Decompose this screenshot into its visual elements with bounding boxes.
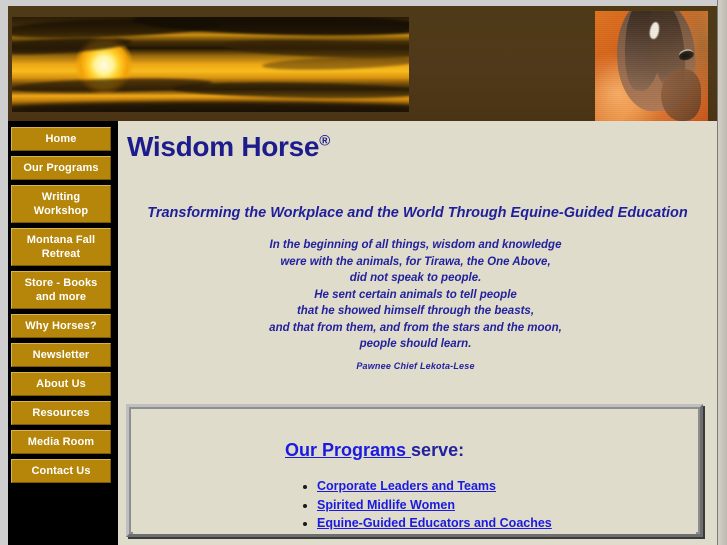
poem-line: did not speak to people. — [118, 270, 713, 287]
cloud-band — [262, 54, 409, 72]
sidebar-nav: Home Our Programs Writing Workshop Monta… — [11, 127, 111, 488]
banner-image — [8, 6, 717, 121]
program-link-corporate-leaders-and-teams[interactable]: Corporate Leaders and Teams — [317, 479, 496, 493]
cloud-band — [12, 35, 132, 57]
sidebar-item-our-programs[interactable]: Our Programs — [11, 156, 111, 180]
poem-attribution: Pawnee Chief Lekota-Lese — [118, 358, 713, 375]
sidebar-item-contact-us[interactable]: Contact Us — [11, 459, 111, 483]
sidebar-item-home[interactable]: Home — [11, 127, 111, 151]
sidebar-item-store-books-and-more[interactable]: Store - Books and more — [11, 271, 111, 309]
horse-head-photo — [595, 11, 708, 121]
page-root: Home Our Programs Writing Workshop Monta… — [0, 0, 727, 545]
sidebar-item-newsletter[interactable]: Newsletter — [11, 343, 111, 367]
poem-line: In the beginning of all things, wisdom a… — [118, 237, 713, 254]
programs-panel-inner: Our Programs serve: Corporate Leaders an… — [133, 411, 696, 534]
list-item: Equine-Guided Educators and Coaches — [317, 514, 552, 533]
list-item: Spirited Midlife Women — [317, 496, 552, 515]
poem-line: that he showed himself through the beast… — [118, 303, 713, 320]
sidebar-item-montana-fall-retreat[interactable]: Montana Fall Retreat — [11, 228, 111, 266]
poem-line: He sent certain animals to tell people — [118, 287, 713, 304]
sidebar-item-resources[interactable]: Resources — [11, 401, 111, 425]
programs-list: Corporate Leaders and Teams Spirited Mid… — [293, 477, 552, 533]
cloud-band — [132, 17, 409, 39]
window-scrollbar[interactable] — [717, 0, 727, 545]
poem-line: people should learn. — [118, 336, 713, 353]
sidebar: Home Our Programs Writing Workshop Monta… — [0, 121, 118, 545]
programs-panel: Our Programs serve: Corporate Leaders an… — [126, 404, 703, 537]
program-link-spirited-midlife-women[interactable]: Spirited Midlife Women — [317, 498, 455, 512]
cloud-band — [172, 81, 409, 101]
registered-trademark-symbol: ® — [319, 133, 330, 150]
programs-heading: Our Programs serve: — [285, 440, 464, 461]
program-link-equine-guided-educators-and-coaches[interactable]: Equine-Guided Educators and Coaches — [317, 516, 552, 530]
sidebar-item-media-room[interactable]: Media Room — [11, 430, 111, 454]
sidebar-item-why-horses[interactable]: Why Horses? — [11, 314, 111, 338]
poem-line: and that from them, and from the stars a… — [118, 320, 713, 337]
page-title-text: Wisdom Horse — [127, 131, 319, 162]
sidebar-item-writing-workshop[interactable]: Writing Workshop — [11, 185, 111, 223]
cloud-band — [12, 101, 409, 112]
our-programs-link[interactable]: Our Programs — [285, 440, 411, 460]
page-title: Wisdom Horse® — [127, 131, 330, 163]
sidebar-item-about-us[interactable]: About Us — [11, 372, 111, 396]
photo-grain-overlay — [595, 11, 708, 121]
list-item: Corporate Leaders and Teams — [317, 477, 552, 496]
site-tagline: Transforming the Workplace and the World… — [118, 205, 717, 221]
programs-heading-suffix: serve: — [411, 440, 464, 460]
poem-line: were with the animals, for Tirawa, the O… — [118, 254, 713, 271]
poem-quote: In the beginning of all things, wisdom a… — [118, 237, 713, 374]
main-content: Wisdom Horse® Transforming the Workplace… — [118, 121, 717, 545]
site-banner — [0, 0, 717, 121]
sunset-photo — [12, 17, 409, 112]
